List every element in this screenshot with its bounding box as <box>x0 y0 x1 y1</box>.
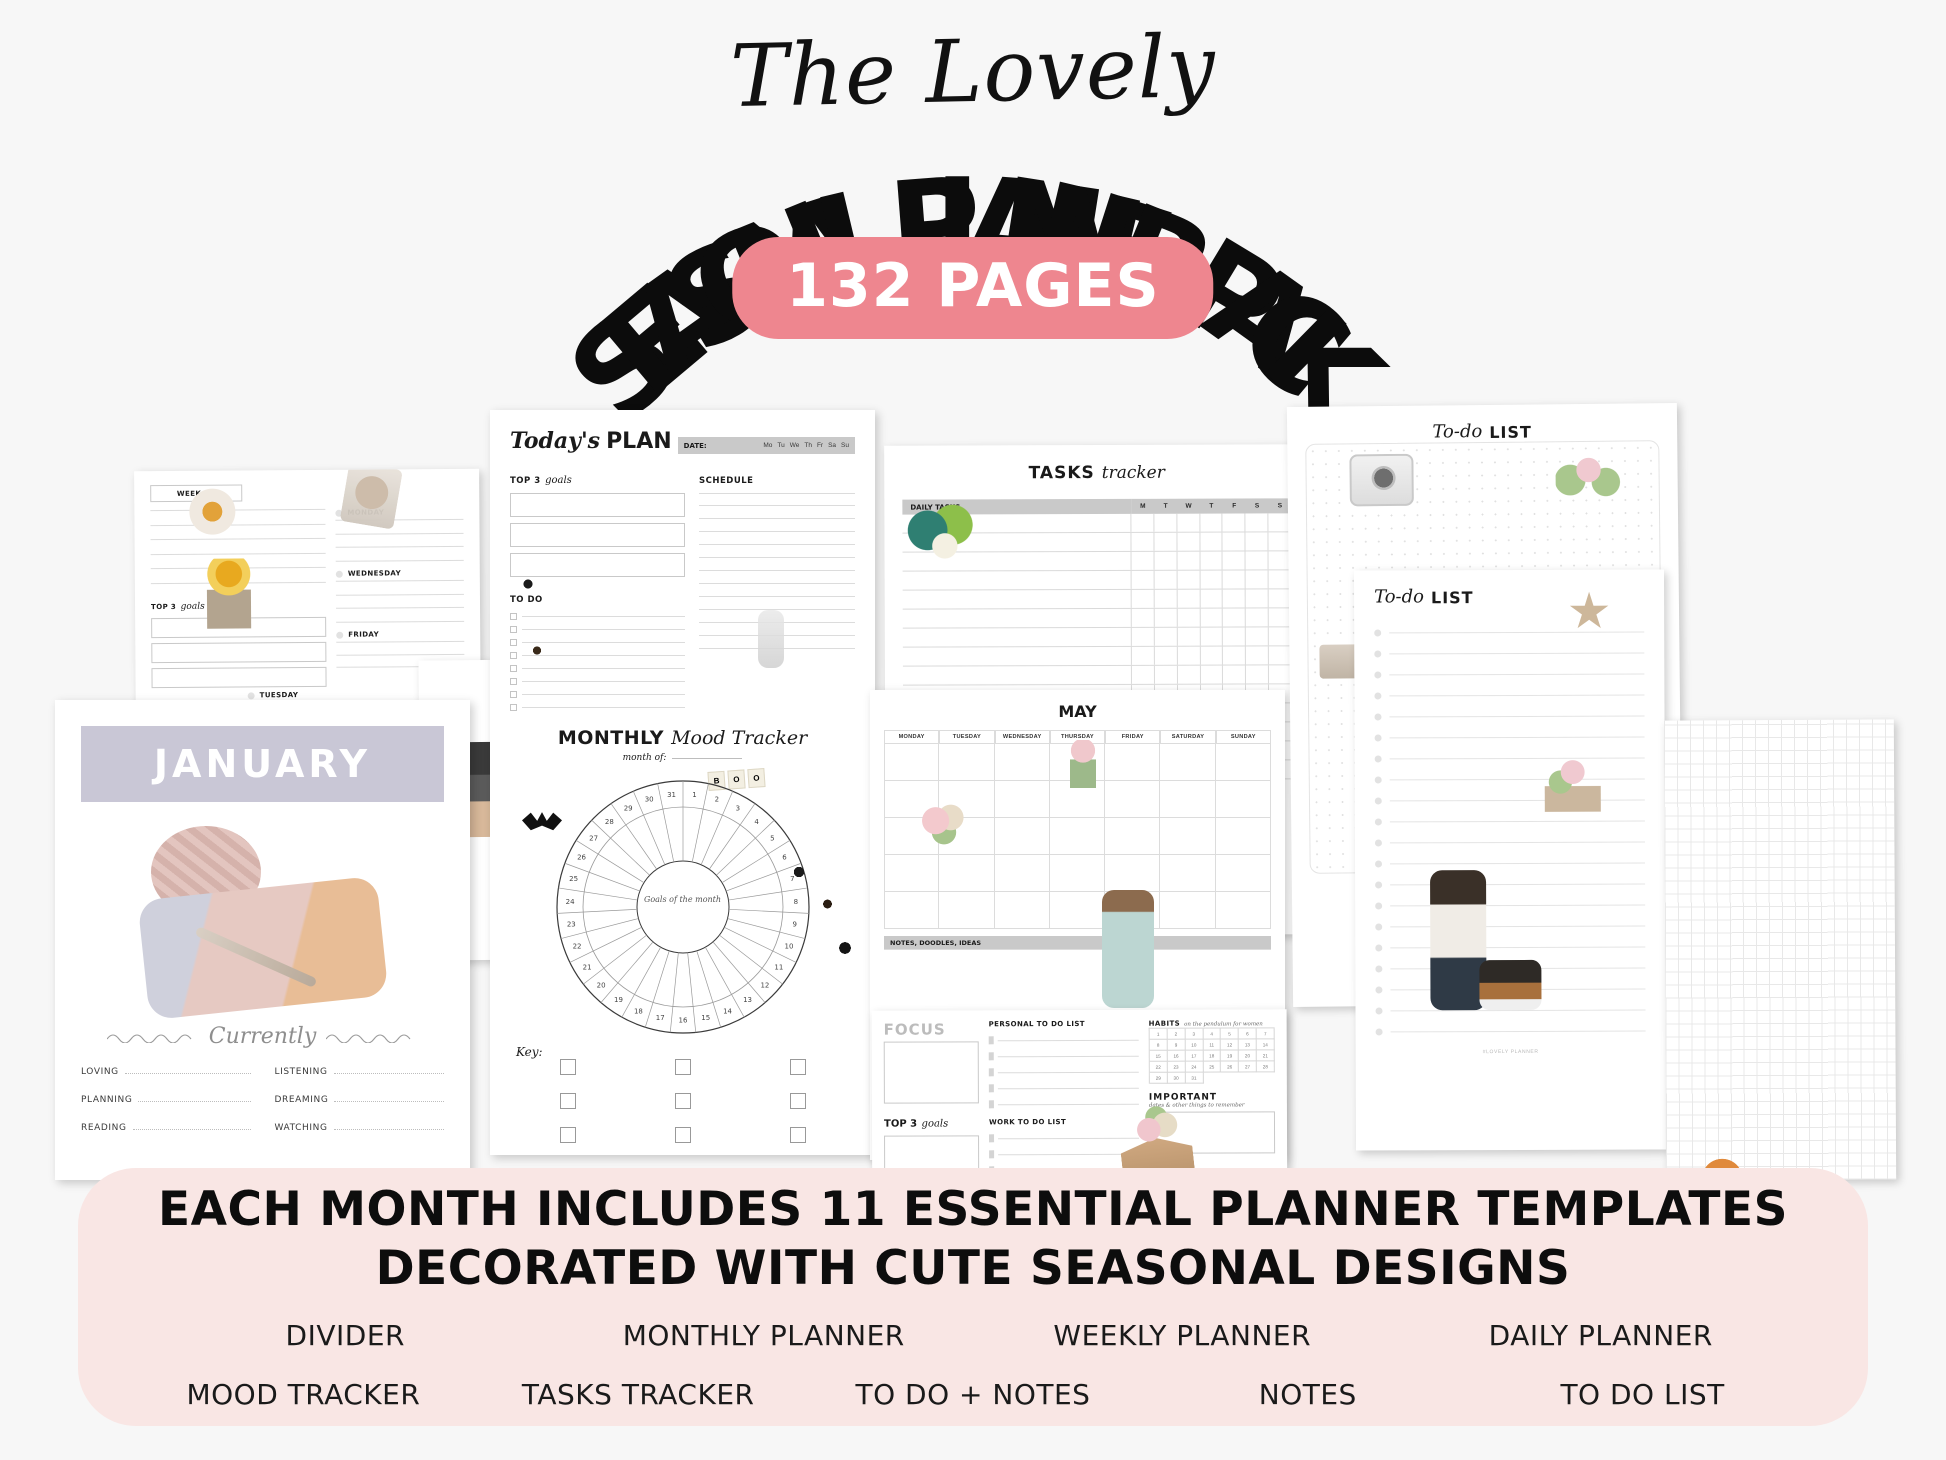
currently-field-label: WATCHING <box>275 1123 328 1133</box>
habit-day-cell[interactable]: 1 <box>1150 1029 1168 1040</box>
list-item <box>989 1150 1139 1159</box>
currently-field-input[interactable] <box>138 1093 250 1102</box>
habit-day-cell[interactable]: 22 <box>1150 1062 1168 1073</box>
wheel-day-number: 2 <box>714 796 718 804</box>
mood-key-checkbox[interactable] <box>560 1059 576 1075</box>
task-check-cell[interactable] <box>1246 532 1269 550</box>
task-check-cell[interactable] <box>1200 628 1223 646</box>
habit-day-cell[interactable]: 16 <box>1168 1051 1186 1062</box>
monthly-day-cell[interactable] <box>1160 818 1215 855</box>
monthly-day-cell[interactable] <box>1216 892 1271 929</box>
schedule-row <box>699 519 855 532</box>
task-check-cell[interactable] <box>1154 514 1177 532</box>
tasks-row <box>903 627 1292 647</box>
write-line <box>1390 968 1645 970</box>
task-check-cell[interactable] <box>1177 590 1200 608</box>
monthly-day-cell[interactable] <box>1050 855 1105 892</box>
tasks-title-bold: TASKS <box>1029 463 1095 483</box>
template-divider: DIVIDER <box>136 1319 555 1352</box>
task-check-cell[interactable] <box>1200 609 1223 627</box>
task-check-cell[interactable] <box>1132 552 1155 570</box>
monthly-weekday-header: TUESDAY <box>939 730 994 744</box>
task-name-cell[interactable] <box>903 552 1132 571</box>
monthly-day-cell[interactable] <box>1160 781 1215 818</box>
task-name-cell[interactable] <box>903 590 1132 609</box>
monthly-weekday-header: SATURDAY <box>1160 730 1215 744</box>
bullet-dot <box>1374 629 1381 636</box>
task-name-cell[interactable] <box>903 609 1132 628</box>
monthly-day-cell[interactable] <box>1160 744 1215 781</box>
checkbox[interactable] <box>989 1084 994 1092</box>
task-name-cell[interactable] <box>903 571 1132 590</box>
bullet-dot <box>1375 965 1382 972</box>
wheel-day-number: 17 <box>655 1014 664 1022</box>
habit-day-cell[interactable]: 29 <box>1150 1073 1168 1084</box>
write-line <box>998 1137 1139 1138</box>
checkbox[interactable] <box>510 639 517 646</box>
template-weekly-planner: WEEKLY PLANNER <box>973 1319 1392 1352</box>
todo-list-title-script: To-do <box>1374 586 1424 607</box>
wheel-day-number: 11 <box>774 963 783 971</box>
bullet-dot <box>1375 839 1382 846</box>
write-line <box>522 655 685 656</box>
write-line <box>998 1055 1139 1056</box>
write-line <box>998 1087 1139 1088</box>
write-line <box>1390 842 1645 844</box>
wheel-day-number: 12 <box>760 981 769 989</box>
habit-day-cell[interactable]: 19 <box>1221 1050 1239 1061</box>
write-line <box>998 1103 1139 1104</box>
habit-day-cell[interactable]: 14 <box>1257 1039 1275 1050</box>
habit-day-cell[interactable]: 7 <box>1257 1028 1275 1039</box>
task-check-cell[interactable] <box>1246 608 1269 626</box>
tasks-row <box>903 665 1292 685</box>
monthly-day-cell[interactable] <box>884 818 939 855</box>
task-check-cell[interactable] <box>1200 514 1223 532</box>
monthly-day-cell[interactable] <box>1216 818 1271 855</box>
weekday-fr: Fr <box>817 442 823 449</box>
top3-label: TOP 3 <box>884 1119 917 1130</box>
work-todo-label: WORK TO DO LIST <box>989 1118 1139 1127</box>
important-label: IMPORTANT <box>1149 1092 1275 1102</box>
list-item <box>989 1084 1139 1093</box>
task-check-cell[interactable] <box>1131 514 1154 532</box>
monthly-day-cell[interactable] <box>1105 781 1160 818</box>
habit-day-cell[interactable]: 5 <box>1221 1028 1239 1039</box>
todo-label: TO DO <box>510 595 543 605</box>
todo-list-title-script: To-do <box>1432 421 1482 443</box>
task-check-cell[interactable] <box>1200 533 1223 551</box>
tasks-day-header: F <box>1223 498 1246 513</box>
task-name-cell[interactable] <box>903 628 1132 647</box>
task-check-cell[interactable] <box>1223 551 1246 569</box>
habit-day-cell[interactable]: 2 <box>1168 1029 1186 1040</box>
monthly-day-cell[interactable] <box>1105 818 1160 855</box>
task-check-cell[interactable] <box>1155 647 1178 665</box>
list-item <box>1376 1007 1646 1015</box>
task-check-cell[interactable] <box>1246 665 1269 683</box>
bullet-dot <box>1375 902 1382 909</box>
habit-day-cell[interactable]: 15 <box>1150 1051 1168 1062</box>
monthly-day-cell[interactable] <box>995 855 1050 892</box>
schedule-row <box>699 610 855 623</box>
monthly-day-cell[interactable] <box>1216 781 1271 818</box>
list-item <box>1374 692 1644 700</box>
mood-key-checkbox[interactable] <box>675 1127 691 1143</box>
habit-day-cell[interactable]: 18 <box>1203 1051 1221 1062</box>
monthly-day-cell[interactable] <box>1105 744 1160 781</box>
habit-day-cell[interactable]: 10 <box>1185 1040 1203 1051</box>
currently-field-label: LISTENING <box>275 1067 328 1077</box>
monthly-day-cell[interactable] <box>939 781 994 818</box>
monthly-day-cell[interactable] <box>1216 855 1271 892</box>
daily-plan-mood-page: Today's PLAN DATE: Mo Tu We Th Fr Sa Su <box>490 410 875 1155</box>
habit-day-cell[interactable]: 21 <box>1257 1050 1275 1061</box>
currently-field-row: LOVINGLISTENING <box>81 1065 444 1077</box>
monthly-day-cell[interactable] <box>884 781 939 818</box>
weekday-label-friday: FRIDAY <box>348 631 379 639</box>
grid-paper-area[interactable] <box>1664 719 1896 1180</box>
list-item <box>989 1052 1139 1061</box>
daily-title-script: Today's <box>510 428 600 454</box>
bullet-dot <box>1374 671 1381 678</box>
wheel-day-number: 13 <box>743 996 752 1004</box>
task-check-cell[interactable] <box>1154 571 1177 589</box>
top3-label: TOP 3 <box>151 603 176 611</box>
weekday-sa: Sa <box>828 442 836 449</box>
mood-key-checkbox[interactable] <box>675 1059 691 1075</box>
wheel-day-number: 20 <box>596 981 605 989</box>
monthly-day-cell[interactable] <box>1105 855 1160 892</box>
divider-page: JANUARY Currently LOVINGLISTENINGPLANNIN… <box>55 700 470 1180</box>
write-line <box>522 642 685 643</box>
task-check-cell[interactable] <box>1223 608 1246 626</box>
currently-field-label: LOVING <box>81 1067 119 1077</box>
bullet-dot <box>1375 734 1382 741</box>
todo-list-page-front: To-do LIST #LOVELY PLANNER <box>1354 569 1666 1150</box>
monthly-day-cell[interactable] <box>939 892 994 929</box>
checkbox[interactable] <box>510 652 517 659</box>
template-todo-list: TO DO LIST <box>1475 1378 1810 1411</box>
monthly-day-cell[interactable] <box>1050 892 1105 929</box>
tasks-row <box>903 589 1292 609</box>
task-check-cell[interactable] <box>1177 609 1200 627</box>
task-name-cell[interactable] <box>903 647 1132 666</box>
checkbox[interactable] <box>510 704 517 711</box>
task-check-cell[interactable] <box>1223 513 1246 531</box>
bullet-dot <box>1375 755 1382 762</box>
top3-script: goals <box>545 475 572 486</box>
tasks-row <box>903 570 1292 590</box>
todo-row <box>510 665 685 672</box>
task-check-cell[interactable] <box>1223 570 1246 588</box>
wheel-day-number: 31 <box>667 791 676 799</box>
wheel-day-number: 22 <box>572 943 581 951</box>
todo-row <box>510 626 685 633</box>
wheel-day-number: 15 <box>701 1014 710 1022</box>
task-check-cell[interactable] <box>1132 666 1155 684</box>
task-check-cell[interactable] <box>1223 627 1246 645</box>
wheel-day-number: 29 <box>623 805 632 813</box>
mood-key-checkbox[interactable] <box>560 1093 576 1109</box>
schedule-row <box>699 558 855 571</box>
task-check-cell[interactable] <box>1154 552 1177 570</box>
task-check-cell[interactable] <box>1177 533 1200 551</box>
schedule-row <box>699 584 855 597</box>
monthly-day-cell[interactable] <box>995 818 1050 855</box>
monthly-day-cell[interactable] <box>1105 892 1160 929</box>
habit-day-cell[interactable]: 31 <box>1186 1073 1204 1084</box>
monthly-day-cell[interactable] <box>995 781 1050 818</box>
wheel-day-number: 3 <box>735 805 739 813</box>
task-check-cell[interactable] <box>1177 552 1200 570</box>
monthly-day-cell[interactable] <box>884 892 939 929</box>
bullet-dot <box>1375 944 1382 951</box>
task-check-cell[interactable] <box>1155 590 1178 608</box>
checkbox[interactable] <box>989 1150 994 1158</box>
write-line <box>1391 1031 1646 1033</box>
habit-day-cell[interactable]: 26 <box>1221 1061 1239 1072</box>
product-listing-graphic: The Lovely SEASONAL PLANNER PACK 132 PAG… <box>0 0 1946 1460</box>
mood-key-checkbox[interactable] <box>560 1127 576 1143</box>
weekday-label-monday: MONDAY <box>347 508 384 516</box>
monthly-weekday-header: FRIDAY <box>1105 730 1160 744</box>
monthly-weekday-header: WEDNESDAY <box>995 730 1050 744</box>
schedule-row <box>699 597 855 610</box>
task-name-cell[interactable] <box>903 666 1132 685</box>
habit-day-cell[interactable]: 6 <box>1239 1028 1257 1039</box>
list-item <box>1374 671 1644 679</box>
mood-key-checkbox[interactable] <box>790 1093 806 1109</box>
write-line <box>998 1153 1139 1154</box>
monthly-day-cell[interactable] <box>1160 855 1215 892</box>
habit-day-cell[interactable]: 8 <box>1150 1040 1168 1051</box>
task-check-cell[interactable] <box>1177 571 1200 589</box>
habit-day-cell[interactable]: 11 <box>1203 1040 1221 1051</box>
task-check-cell[interactable] <box>1155 628 1178 646</box>
task-check-cell[interactable] <box>1269 665 1292 683</box>
key-label: Key: <box>516 1045 855 1059</box>
task-check-cell[interactable] <box>1132 590 1155 608</box>
currently-field-input[interactable] <box>133 1121 251 1130</box>
task-check-cell[interactable] <box>1223 532 1246 550</box>
currently-field-input[interactable] <box>334 1121 444 1130</box>
wheel-day-number: 4 <box>754 818 759 826</box>
todo-row <box>510 652 685 659</box>
task-check-cell[interactable] <box>1178 647 1201 665</box>
wheel-day-number: 14 <box>723 1007 732 1015</box>
habit-day-cell[interactable]: 23 <box>1168 1062 1186 1073</box>
write-line <box>1389 695 1644 697</box>
wheel-day-number: 6 <box>782 854 787 862</box>
task-check-cell[interactable] <box>1132 647 1155 665</box>
weekday-label-tuesday: TUESDAY <box>260 691 299 699</box>
task-name-cell[interactable] <box>902 514 1131 533</box>
knitting-needle-illustration <box>195 926 318 988</box>
checkbox[interactable] <box>510 678 517 685</box>
schedule-row <box>699 636 855 649</box>
monthly-day-cell[interactable] <box>939 744 994 781</box>
habit-day-cell[interactable]: 3 <box>1185 1029 1203 1040</box>
tasks-row <box>903 551 1292 571</box>
monthly-day-cell[interactable] <box>1050 818 1105 855</box>
task-check-cell[interactable] <box>1246 646 1269 664</box>
notes-doodles-area[interactable] <box>884 949 1271 950</box>
task-check-cell[interactable] <box>1246 551 1269 569</box>
mood-title-bold: MONTHLY <box>558 727 664 749</box>
banner-template-row-2: MOOD TRACKER TASKS TRACKER TO DO + NOTES… <box>78 1378 1868 1411</box>
write-line <box>522 707 685 708</box>
habit-day-cell[interactable]: 30 <box>1168 1073 1186 1084</box>
task-check-cell[interactable] <box>1132 571 1155 589</box>
wheel-day-number: 19 <box>613 996 622 1004</box>
write-line <box>522 668 685 669</box>
currently-field-label: PLANNING <box>81 1095 132 1105</box>
schedule-row <box>699 571 855 584</box>
list-item <box>989 1134 1139 1143</box>
bullet-dot <box>1374 692 1381 699</box>
checkbox[interactable] <box>989 1068 994 1076</box>
currently-field-input[interactable] <box>125 1065 251 1074</box>
todo-list-title-bold: LIST <box>1431 588 1474 607</box>
tasks-row <box>903 608 1292 628</box>
task-check-cell[interactable] <box>1223 646 1246 664</box>
task-check-cell[interactable] <box>1178 666 1201 684</box>
habit-day-cell[interactable]: 17 <box>1185 1051 1203 1062</box>
habit-day-cell[interactable]: 20 <box>1239 1050 1257 1061</box>
habit-day-cell[interactable]: 13 <box>1239 1039 1257 1050</box>
write-line <box>1390 905 1645 907</box>
wheel-day-number: 28 <box>604 818 613 826</box>
task-check-cell[interactable] <box>1200 647 1223 665</box>
task-check-cell[interactable] <box>1154 533 1177 551</box>
task-check-cell[interactable] <box>1246 513 1269 531</box>
checkbox[interactable] <box>989 1100 994 1108</box>
habit-day-cell[interactable]: 12 <box>1221 1039 1239 1050</box>
schedule-row <box>699 623 855 636</box>
list-item <box>1375 902 1645 910</box>
wheel-day-number: 9 <box>792 921 796 929</box>
monthly-day-cell[interactable] <box>1216 744 1271 781</box>
currently-field-input[interactable] <box>334 1093 444 1102</box>
monthly-day-cell[interactable] <box>884 744 939 781</box>
monthly-day-cell[interactable] <box>1050 744 1105 781</box>
monthly-day-cell[interactable] <box>995 892 1050 929</box>
checkbox[interactable] <box>510 691 517 698</box>
task-check-cell[interactable] <box>1246 570 1269 588</box>
task-check-cell[interactable] <box>1223 589 1246 607</box>
list-item <box>1375 944 1645 952</box>
currently-field-input[interactable] <box>334 1065 444 1074</box>
list-item <box>1375 797 1645 805</box>
mood-key-checkbox[interactable] <box>675 1093 691 1109</box>
monthly-day-cell[interactable] <box>1160 892 1215 929</box>
task-check-cell[interactable] <box>1155 666 1178 684</box>
monthly-day-cell[interactable] <box>939 855 994 892</box>
task-check-cell[interactable] <box>1155 609 1178 627</box>
schedule-row <box>699 532 855 545</box>
mood-key-checkbox[interactable] <box>790 1059 806 1075</box>
list-item <box>1375 965 1645 973</box>
template-tasks-tracker: TASKS TRACKER <box>471 1378 806 1411</box>
bullet-dot <box>1375 776 1382 783</box>
habit-day-cell[interactable]: 24 <box>1185 1062 1203 1073</box>
tasks-row <box>902 532 1291 552</box>
personal-todo-label: PERSONAL TO DO LIST <box>989 1020 1139 1029</box>
task-check-cell[interactable] <box>1131 533 1154 551</box>
wheel-day-number: 23 <box>566 921 575 929</box>
tasks-row <box>902 513 1291 533</box>
todo-row <box>510 691 685 698</box>
day-bullet <box>248 692 255 699</box>
list-item <box>1375 839 1645 847</box>
task-check-cell[interactable] <box>1132 628 1155 646</box>
monthly-day-cell[interactable] <box>1050 781 1105 818</box>
mood-wheel: 1234567891011121314151617181920212223242… <box>553 777 813 1037</box>
checkbox[interactable] <box>989 1036 994 1044</box>
habit-day-cell[interactable]: 25 <box>1203 1062 1221 1073</box>
write-line <box>1390 989 1645 991</box>
checkbox[interactable] <box>510 613 517 620</box>
task-check-cell[interactable] <box>1177 514 1200 532</box>
wheel-day-number: 26 <box>577 854 586 862</box>
mood-key-checkbox[interactable] <box>790 1127 806 1143</box>
monthly-day-cell[interactable] <box>995 744 1050 781</box>
checkbox[interactable] <box>989 1134 994 1142</box>
checkbox[interactable] <box>510 665 517 672</box>
task-check-cell[interactable] <box>1200 552 1223 570</box>
bullet-dot <box>1374 713 1381 720</box>
template-mood-tracker: MOOD TRACKER <box>136 1378 471 1411</box>
write-line <box>1390 737 1645 739</box>
habit-day-cell[interactable]: 28 <box>1257 1061 1275 1072</box>
day-bullet <box>336 570 343 577</box>
write-line <box>1391 1010 1646 1012</box>
write-line <box>1389 632 1644 634</box>
checkbox[interactable] <box>989 1052 994 1060</box>
checkbox[interactable] <box>510 626 517 633</box>
weekday-label-wednesday: WEDNESDAY <box>348 569 401 577</box>
monthly-day-cell[interactable] <box>884 855 939 892</box>
task-name-cell[interactable] <box>902 533 1131 552</box>
divider-month-title: JANUARY <box>154 742 371 786</box>
mood-title-script: Mood Tracker <box>671 727 807 749</box>
task-check-cell[interactable] <box>1200 571 1223 589</box>
task-check-cell[interactable] <box>1246 589 1269 607</box>
list-item <box>1375 881 1645 889</box>
tasks-title-script: tracker <box>1102 463 1165 483</box>
habit-day-cell[interactable]: 27 <box>1239 1061 1257 1072</box>
task-check-cell[interactable] <box>1200 666 1223 684</box>
template-daily-planner: DAILY PLANNER <box>1392 1319 1811 1352</box>
weekday-mo: Mo <box>763 442 772 449</box>
task-check-cell[interactable] <box>1132 609 1155 627</box>
task-check-cell[interactable] <box>1246 627 1269 645</box>
monthly-day-cell[interactable] <box>939 818 994 855</box>
daily-title-bold: PLAN <box>606 429 672 454</box>
habit-day-cell[interactable]: 9 <box>1168 1040 1186 1051</box>
habit-day-cell[interactable]: 4 <box>1203 1029 1221 1040</box>
task-check-cell[interactable] <box>1200 590 1223 608</box>
list-item <box>989 1068 1139 1077</box>
task-check-cell[interactable] <box>1223 665 1246 683</box>
task-check-cell[interactable] <box>1178 628 1201 646</box>
write-line <box>522 629 685 630</box>
tasks-day-header: M <box>1131 499 1154 514</box>
wheel-day-number: 7 <box>790 875 794 883</box>
list-item <box>1374 650 1644 658</box>
page-count-badge: 132 PAGES <box>732 237 1213 339</box>
